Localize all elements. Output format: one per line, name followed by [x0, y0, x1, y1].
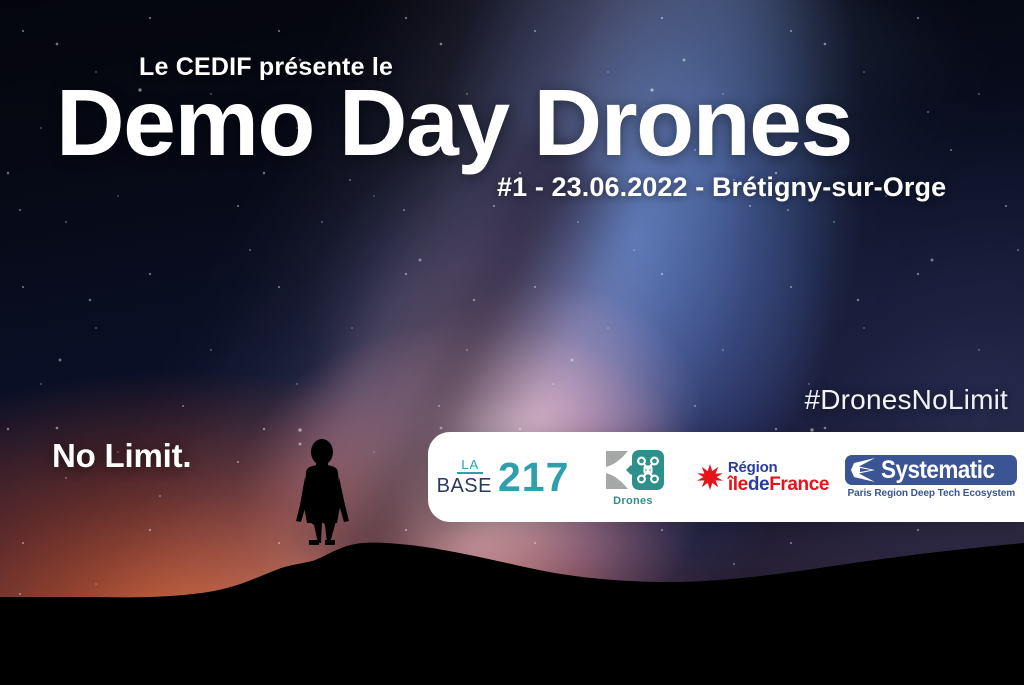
- logo-la-base-217[interactable]: LA BASE 217: [428, 432, 578, 522]
- la-base-la-text: LA: [461, 458, 479, 471]
- event-subtitle: #1 - 23.06.2022 - Brétigny-sur-Orge: [497, 172, 946, 203]
- systematic-title: Systematic: [881, 457, 994, 483]
- page-title: Demo Day Drones: [56, 76, 852, 171]
- idf-region-text: Région: [728, 460, 829, 475]
- idf-de-text: de: [748, 474, 769, 495]
- idf-france-text: France: [769, 474, 829, 495]
- idf-ile-text: île: [728, 474, 748, 495]
- starburst-icon: [697, 464, 723, 490]
- logo-region-ile-de-france[interactable]: Région îledeFrance: [688, 432, 838, 522]
- logo-drones[interactable]: Drones: [578, 432, 688, 522]
- la-base-number: 217: [498, 459, 569, 496]
- tagline-text: No Limit.: [52, 437, 191, 475]
- logo-systematic[interactable]: Systematic Paris Region Deep Tech Ecosys…: [838, 432, 1024, 522]
- sponsor-logo-bar: LA BASE 217: [428, 432, 1024, 522]
- hashtag-text: #DronesNoLimit: [804, 384, 1008, 416]
- systematic-subtitle: Paris Region Deep Tech Ecosystem: [847, 487, 1015, 499]
- person-silhouette: [296, 439, 349, 545]
- poster: Le CEDIF présente le Demo Day Drones #1 …: [0, 0, 1024, 685]
- la-base-la-rule: [457, 472, 483, 474]
- systematic-mark-icon: [849, 457, 877, 483]
- drones-mark: [602, 448, 664, 492]
- drones-label: Drones: [613, 495, 653, 507]
- la-base-base-text: BASE: [437, 476, 492, 496]
